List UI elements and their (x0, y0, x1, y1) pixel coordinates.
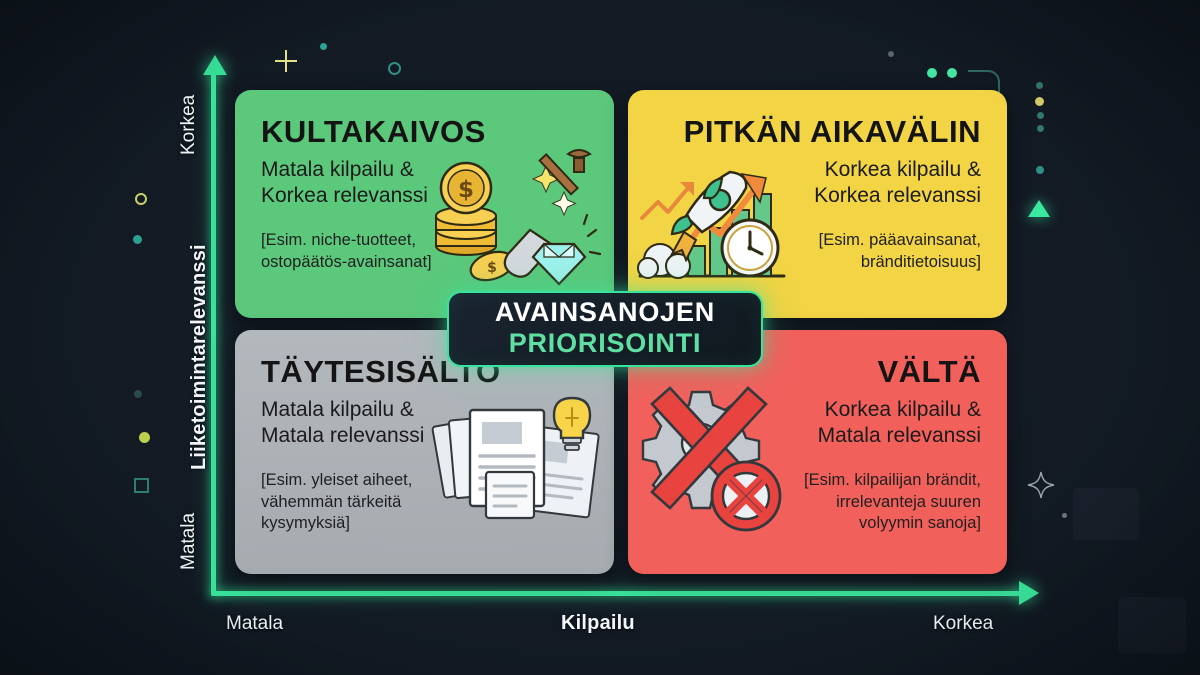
soft-rectangle-decoration (1118, 597, 1186, 653)
yellow-ring-icon (135, 193, 147, 205)
center-title-badge: AVAINSANOJEN PRIORISOINTI (447, 291, 763, 367)
quadrant-text-block: KULTAKAIVOS Matala kilpailu & Korkea rel… (261, 116, 491, 273)
x-axis-title: Kilpailu (561, 612, 635, 635)
quadrant-example: [Esim. kilpailijan brändit, irrelevantej… (721, 470, 981, 534)
quadrant-subtitle: Matala kilpailu & Korkea relevanssi (261, 157, 491, 211)
teal-dot-icon (133, 235, 142, 244)
y-axis-high-label: Korkea (178, 95, 200, 155)
y-axis-title: Liiketoimintarelevanssi (188, 244, 211, 470)
quadrant-example: [Esim. niche-tuotteet, ostopäätös-avains… (261, 230, 491, 273)
x-axis-line (211, 591, 1024, 596)
quadrant-text-block: PITKÄN AIKAVÄLIN Korkea kilpailu & Korke… (751, 116, 981, 273)
quadrant-subtitle: Korkea kilpailu & Korkea relevanssi (751, 157, 981, 211)
green-dot-icon (947, 68, 957, 78)
quadrant-example: [Esim. pääavainsanat, bränditietoisuus] (751, 230, 981, 273)
quadrant-kultakaivos[interactable]: $ $ KULTAKAIVOS Matala kilpail (235, 90, 614, 318)
x-axis-arrow-icon (1019, 581, 1039, 605)
x-axis-low-label: Matala (226, 613, 283, 635)
quadrant-example: [Esim. yleiset aiheet, vähemmän tärkeitä… (261, 470, 491, 534)
soft-rectangle-decoration (1073, 488, 1139, 540)
quadrant-title: PITKÄN AIKAVÄLIN (628, 116, 981, 149)
badge-line-1: AVAINSANOJEN (495, 299, 715, 326)
green-dot-icon (927, 68, 937, 78)
quadrant-pitkan-aikavalin[interactable]: PITKÄN AIKAVÄLIN Korkea kilpailu & Korke… (628, 90, 1007, 318)
teal-dot-icon (1037, 125, 1044, 132)
teal-square-icon (134, 478, 149, 493)
quadrant-title: VÄLTÄ (751, 356, 981, 389)
infographic-canvas: Korkea Liiketoimintarelevanssi Matala Ma… (0, 0, 1200, 675)
badge-line-2: PRIORISOINTI (509, 329, 702, 358)
yellow-dot-icon (1035, 97, 1044, 106)
quadrant-subtitle: Matala kilpailu & Matala relevanssi (261, 397, 491, 451)
quadrant-text-block: VÄLTÄ Korkea kilpailu & Matala relevanss… (751, 356, 981, 535)
y-axis-low-label: Matala (178, 513, 200, 570)
teal-dot-icon (1036, 166, 1044, 174)
teal-dot-icon (320, 43, 327, 50)
teal-dot-icon (1036, 82, 1043, 89)
green-triangle-icon (1028, 200, 1050, 217)
quadrant-title: KULTAKAIVOS (261, 116, 491, 149)
quadrant-text-block: TÄYTESISÄLTÖ Matala kilpailu & Matala re… (261, 356, 491, 535)
quadrant-subtitle: Korkea kilpailu & Matala relevanssi (751, 397, 981, 451)
x-axis-high-label: Korkea (933, 613, 993, 635)
yellow-dot-icon (139, 432, 150, 443)
gray-dot-icon (1062, 513, 1067, 518)
sparkle-star-icon (1026, 470, 1056, 500)
teal-dot-icon (1037, 112, 1044, 119)
plus-marker-icon (275, 50, 297, 72)
dim-dot-icon (134, 390, 142, 398)
gray-dot-icon (888, 51, 894, 57)
teal-ring-icon (388, 62, 401, 75)
y-axis-line (211, 72, 216, 596)
